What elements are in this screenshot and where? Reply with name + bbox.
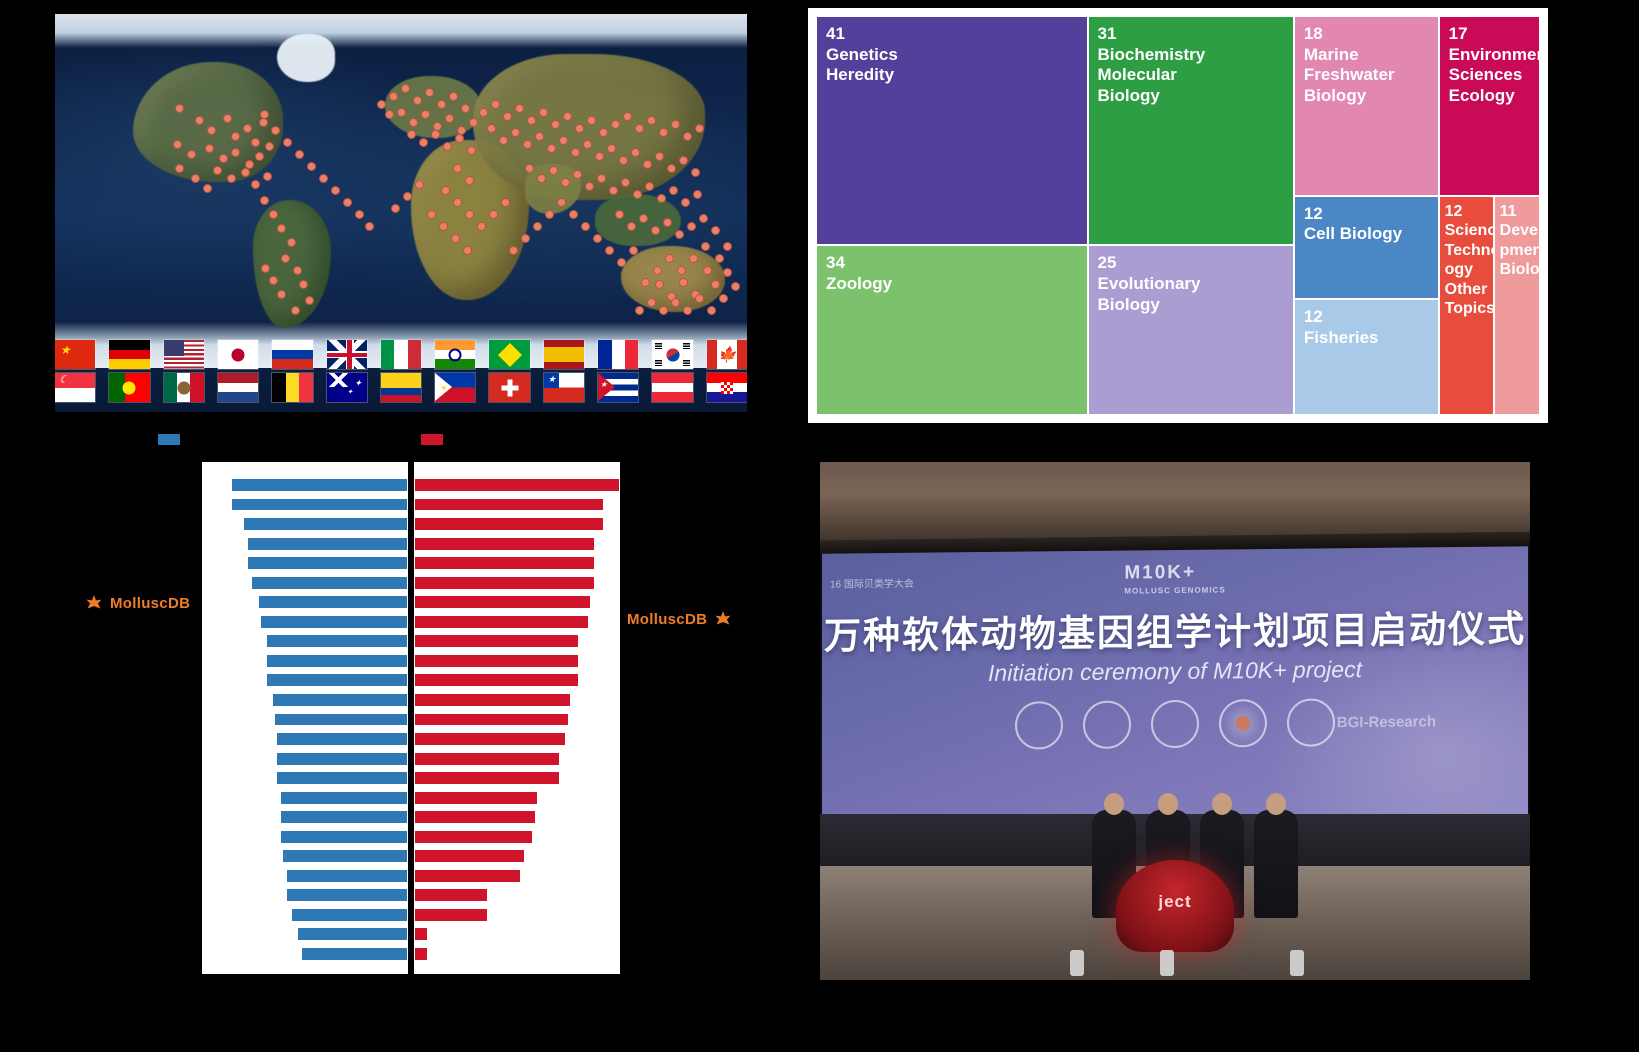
sample-site-marker — [689, 254, 698, 263]
sample-site-marker — [669, 186, 678, 195]
sample-site-marker — [263, 172, 272, 181]
treemap-cell-label: Zoology — [826, 274, 1081, 295]
sample-site-marker — [299, 280, 308, 289]
sample-site-marker — [559, 136, 568, 145]
flag-philippines: ☀ — [435, 373, 475, 402]
sample-site-marker — [595, 152, 604, 161]
sample-site-marker — [627, 222, 636, 231]
treemap-cell-biochemistry-molecular-biology[interactable]: 31BiochemistryMolecularBiology — [1088, 16, 1294, 245]
sample-site-marker — [619, 156, 628, 165]
bar-right[interactable] — [414, 576, 595, 590]
sample-site-marker — [413, 96, 422, 105]
sample-site-marker — [477, 222, 486, 231]
sample-site-marker — [487, 124, 496, 133]
shell-icon-1 — [1015, 701, 1063, 750]
ceremony-photo-panel: 16 国际贝类学大会 M10K+ MOLLUSC GENOMICS 万种软体动物… — [820, 462, 1530, 980]
flag-belgium — [272, 373, 312, 402]
flag-united-states — [164, 340, 204, 369]
sample-site-marker — [523, 140, 532, 149]
sample-site-marker — [231, 148, 240, 157]
sample-site-marker — [539, 108, 548, 117]
person-head — [1104, 793, 1124, 815]
arctic-ice — [55, 14, 747, 48]
person-4 — [1254, 810, 1298, 918]
treemap-cell-label: Marine — [1304, 45, 1432, 66]
treemap-cell-label: Biochemistry — [1098, 45, 1287, 66]
treemap-grid: 41GeneticsHeredity34Zoology31Biochemistr… — [816, 16, 1540, 415]
flag-singapore: ☾ — [55, 373, 95, 402]
screen-title-english: Initiation ceremony of M10K+ project — [988, 656, 1362, 687]
sample-site-marker — [647, 116, 656, 125]
sample-site-marker — [615, 210, 624, 219]
sample-site-marker — [657, 194, 666, 203]
treemap-cell-genetics-heredity[interactable]: 41GeneticsHeredity — [816, 16, 1088, 245]
sample-site-marker — [291, 306, 300, 315]
treemap-cell-value: 18 — [1304, 24, 1432, 45]
flag-brazil — [489, 340, 529, 369]
treemap-cell-label: Biology — [1304, 86, 1432, 107]
sample-site-marker — [575, 124, 584, 133]
flag-netherlands — [218, 373, 258, 402]
sample-site-marker — [439, 222, 448, 231]
sample-site-marker — [397, 108, 406, 117]
sample-site-marker — [307, 162, 316, 171]
bar-left[interactable] — [301, 947, 408, 961]
bar-left[interactable] — [247, 556, 408, 570]
sample-site-marker — [681, 198, 690, 207]
bar-right[interactable] — [414, 752, 560, 766]
sample-site-marker — [527, 116, 536, 125]
sample-site-marker — [295, 150, 304, 159]
sample-site-marker — [533, 222, 542, 231]
sample-site-marker — [675, 230, 684, 239]
flag-cuba: ★ — [598, 373, 638, 402]
bottle-3 — [1290, 950, 1304, 976]
sample-site-marker — [723, 268, 732, 277]
bar-left[interactable] — [258, 595, 408, 609]
sample-site-marker — [581, 222, 590, 231]
bars-plot-area — [202, 462, 620, 974]
flag-portugal — [109, 373, 149, 402]
bars-left-series — [202, 462, 408, 974]
bar-right[interactable] — [414, 791, 538, 805]
bar-right[interactable] — [414, 556, 595, 570]
sample-site-marker — [643, 160, 652, 169]
sample-site-marker — [451, 234, 460, 243]
sample-site-marker — [377, 100, 386, 109]
treemap-cell-label: ogy — [1445, 260, 1491, 280]
sample-site-marker — [711, 280, 720, 289]
bar-left[interactable] — [286, 888, 408, 902]
bar-left[interactable] — [266, 673, 408, 687]
treemap-cell-label: Sciences — [1449, 65, 1533, 86]
sample-site-marker — [365, 222, 374, 231]
sample-site-marker — [461, 104, 470, 113]
sample-site-marker — [261, 264, 270, 273]
treemap-cell-value: 11 — [1500, 202, 1537, 222]
sample-site-marker — [599, 128, 608, 137]
flag-russia — [272, 340, 312, 369]
sample-site-marker — [319, 174, 328, 183]
sample-site-marker — [385, 110, 394, 119]
bar-left[interactable] — [260, 615, 408, 629]
sample-site-marker — [583, 140, 592, 149]
treemap-cell-value: 12 — [1304, 204, 1432, 225]
bar-right[interactable] — [414, 947, 428, 961]
sample-site-marker — [269, 276, 278, 285]
sample-site-marker — [671, 298, 680, 307]
flag-united-kingdom — [327, 340, 367, 369]
sample-site-marker — [425, 88, 434, 97]
treemap-cell-marine-freshwater-biology[interactable]: 18MarineFreshwaterBiology — [1294, 16, 1439, 196]
sample-site-marker — [191, 174, 200, 183]
sample-site-marker — [711, 226, 720, 235]
treemap-cell-label: Other — [1445, 280, 1491, 300]
sample-site-marker — [683, 132, 692, 141]
sample-site-marker — [205, 144, 214, 153]
bar-left[interactable] — [280, 810, 408, 824]
bar-right[interactable] — [414, 654, 579, 668]
flag-colombia — [381, 373, 421, 402]
molluscdb-label-right: MolluscDB — [627, 611, 707, 628]
sample-site-marker — [431, 130, 440, 139]
person-head — [1266, 793, 1286, 815]
sample-site-marker — [593, 234, 602, 243]
treemap-cell-label: Environmental — [1449, 45, 1533, 66]
treemap-cell-label: Freshwater — [1304, 65, 1432, 86]
treemap-cell-value: 17 — [1449, 24, 1533, 45]
treemap-cell-label: Genetics — [826, 45, 1081, 66]
sample-site-marker — [509, 246, 518, 255]
sample-site-marker — [525, 164, 534, 173]
treemap-cell-label: Cell Biology — [1304, 224, 1432, 245]
sample-site-marker — [707, 306, 716, 315]
bar-right[interactable] — [414, 888, 488, 902]
bar-right[interactable] — [414, 908, 488, 922]
treemap-cell-label: Develo — [1500, 221, 1537, 241]
sample-site-marker — [251, 180, 260, 189]
bar-right[interactable] — [414, 830, 533, 844]
sample-site-marker — [499, 136, 508, 145]
shell-icon-2 — [1083, 700, 1131, 749]
treemap-cell-label: Biology — [1098, 295, 1287, 316]
sample-site-marker — [343, 198, 352, 207]
sample-site-marker — [585, 182, 594, 191]
sample-site-marker — [691, 168, 700, 177]
sample-site-marker — [617, 258, 626, 267]
sample-site-marker — [629, 246, 638, 255]
treemap-cell-cell-biology[interactable]: 12Cell Biology — [1294, 196, 1439, 300]
sample-site-marker — [469, 118, 478, 127]
bar-left[interactable] — [266, 634, 408, 648]
star-icon — [84, 594, 104, 613]
sample-site-marker — [501, 198, 510, 207]
treemap-cell-evolutionary-biology[interactable]: 25EvolutionaryBiology — [1088, 245, 1294, 415]
bar-left[interactable] — [286, 869, 408, 883]
flag-switzerland — [489, 373, 529, 402]
sample-site-marker — [287, 238, 296, 247]
sample-site-marker — [511, 128, 520, 137]
sample-site-marker — [723, 242, 732, 251]
bar-right[interactable] — [414, 595, 591, 609]
bar-left[interactable] — [243, 517, 408, 531]
treemap-cell-label: Fisheries — [1304, 328, 1432, 349]
country-flag-strip: ★🍁 ☾✦✦☀★★ — [55, 340, 747, 406]
flag-india — [435, 340, 475, 369]
molluscdb-label-left: MolluscDB — [110, 595, 190, 612]
sample-site-marker — [609, 186, 618, 195]
treemap-cell-value: 25 — [1098, 253, 1287, 274]
bar-left[interactable] — [297, 927, 408, 941]
sample-site-marker — [187, 150, 196, 159]
sample-site-marker — [243, 124, 252, 133]
sample-site-marker — [441, 186, 450, 195]
treemap-cell-label: Biology — [1098, 86, 1287, 107]
screen-title-chinese: 万种软体动物基因组学计划项目启动仪式 — [824, 598, 1526, 659]
treemap-cell-zoology[interactable]: 34Zoology — [816, 245, 1088, 415]
treemap-cell-value: 31 — [1098, 24, 1287, 45]
flag-south-korea — [652, 340, 692, 369]
sample-site-marker — [703, 266, 712, 275]
person-head — [1212, 793, 1232, 815]
treemap-cell-fisheries[interactable]: 12Fisheries — [1294, 299, 1439, 415]
sample-site-marker — [645, 182, 654, 191]
flag-australia: ✦✦ — [327, 373, 367, 402]
bar-right[interactable] — [414, 537, 595, 551]
brand-subtitle: MOLLUSC GENOMICS — [1124, 585, 1225, 595]
sample-site-marker — [227, 174, 236, 183]
flag-japan — [218, 340, 258, 369]
flag-austria — [652, 373, 692, 402]
sample-site-marker — [265, 142, 274, 151]
m10k-brand-logo: M10K+ MOLLUSC GENOMICS — [1124, 561, 1225, 595]
sample-site-marker — [260, 196, 269, 205]
treemap-cell-label: pmenta — [1500, 241, 1537, 261]
conference-tag: 16 国际贝类学大会 — [830, 575, 914, 591]
flag-china: ★ — [55, 340, 95, 369]
sample-site-marker — [207, 126, 216, 135]
research-areas-treemap-panel: 41GeneticsHeredity34Zoology31Biochemistr… — [808, 8, 1548, 423]
sample-site-marker — [715, 254, 724, 263]
sample-site-marker — [665, 254, 674, 263]
shell-icon-3 — [1151, 700, 1199, 749]
sample-site-marker — [719, 294, 728, 303]
sample-site-marker — [693, 190, 702, 199]
treemap-cell-value: 12 — [1445, 202, 1491, 222]
sample-site-marker — [453, 164, 462, 173]
sample-site-marker — [515, 104, 524, 113]
bottle-1 — [1070, 950, 1084, 976]
bar-left[interactable] — [274, 713, 408, 727]
bar-left[interactable] — [280, 791, 408, 805]
bar-right[interactable] — [414, 771, 560, 785]
sample-site-marker — [293, 266, 302, 275]
treemap-cell-value: 41 — [826, 24, 1081, 45]
treemap-cell-label: Heredity — [826, 65, 1081, 86]
sample-site-marker — [687, 222, 696, 231]
treemap-cell-label: Topics — [1445, 299, 1491, 319]
treemap-cell-value: 34 — [826, 253, 1081, 274]
flag-spain — [544, 340, 584, 369]
sample-site-marker — [409, 118, 418, 127]
bar-right[interactable] — [414, 810, 536, 824]
sample-site-marker — [677, 266, 686, 275]
sample-site-marker — [695, 124, 704, 133]
sample-site-marker — [655, 152, 664, 161]
sample-site-marker — [465, 176, 474, 185]
bar-right[interactable] — [414, 732, 566, 746]
flag-croatia — [707, 373, 747, 402]
sample-site-marker — [663, 218, 672, 227]
sample-site-marker — [659, 306, 668, 315]
bar-right[interactable] — [414, 869, 521, 883]
sample-site-marker — [639, 214, 648, 223]
sample-site-marker — [699, 214, 708, 223]
sample-site-marker — [259, 118, 268, 127]
sample-site-marker — [549, 166, 558, 175]
bar-left[interactable] — [291, 908, 408, 922]
sample-site-marker — [203, 184, 212, 193]
stage-led-screen: 16 国际贝类学大会 M10K+ MOLLUSC GENOMICS 万种软体动物… — [822, 546, 1528, 821]
bar-right[interactable] — [414, 634, 579, 648]
treemap-cell-label: Molecular — [1098, 65, 1287, 86]
shell-icon-5 — [1287, 698, 1335, 747]
legend-swatch-left — [158, 434, 180, 445]
bar-left[interactable] — [276, 752, 408, 766]
sample-site-marker — [223, 114, 232, 123]
sample-site-marker — [195, 116, 204, 125]
sample-site-marker — [241, 168, 250, 177]
sample-site-marker — [631, 148, 640, 157]
sample-site-marker — [667, 164, 676, 173]
bar-right[interactable] — [414, 478, 620, 492]
sample-site-marker — [491, 100, 500, 109]
bar-right[interactable] — [414, 498, 604, 512]
sample-site-marker — [651, 226, 660, 235]
sample-site-marker — [219, 154, 228, 163]
sample-site-marker — [633, 190, 642, 199]
treemap-cell-label: Biology — [1500, 260, 1537, 280]
treemap-cell-developmental-biology[interactable]: 11DevelopmentaBiology — [1494, 196, 1540, 415]
sample-site-marker — [545, 210, 554, 219]
bar-left[interactable] — [282, 849, 408, 863]
sample-site-marker — [695, 294, 704, 303]
flag-france — [598, 340, 638, 369]
sample-site-marker — [407, 130, 416, 139]
bar-left[interactable] — [266, 654, 408, 668]
bar-right[interactable] — [414, 615, 589, 629]
sample-site-marker — [647, 298, 656, 307]
continent-greenland — [277, 34, 335, 82]
sample-site-marker — [277, 290, 286, 299]
bar-right[interactable] — [414, 927, 428, 941]
sample-site-marker — [419, 138, 428, 147]
sample-site-marker — [623, 112, 632, 121]
treemap-cell-label: Technol — [1445, 241, 1491, 261]
sample-site-marker — [557, 198, 566, 207]
sample-site-marker — [277, 224, 286, 233]
sample-site-marker — [621, 178, 630, 187]
sample-site-marker — [427, 210, 436, 219]
sample-site-marker — [305, 296, 314, 305]
brand-text: M10K+ — [1124, 562, 1196, 584]
sample-site-marker — [463, 246, 472, 255]
bar-right[interactable] — [414, 693, 571, 707]
sample-site-marker — [449, 92, 458, 101]
sample-site-marker — [607, 144, 616, 153]
sample-site-marker — [173, 140, 182, 149]
continent-asia — [473, 54, 705, 200]
sample-site-marker — [701, 242, 710, 251]
sample-site-marker — [561, 178, 570, 187]
sample-site-marker — [635, 124, 644, 133]
sample-site-marker — [401, 84, 410, 93]
bar-left[interactable] — [247, 537, 408, 551]
flag-row-secondary: ☾✦✦☀★★ — [55, 373, 747, 402]
bar-right[interactable] — [414, 517, 604, 531]
sample-site-marker — [175, 104, 184, 113]
sample-site-marker — [443, 142, 452, 151]
bar-left[interactable] — [280, 830, 408, 844]
shell-icon-4 — [1219, 699, 1267, 748]
bar-left[interactable] — [231, 478, 408, 492]
sample-site-marker — [641, 278, 650, 287]
bar-chart-legend — [140, 432, 640, 446]
sample-site-marker — [587, 116, 596, 125]
sample-site-marker — [489, 210, 498, 219]
sample-site-marker — [683, 306, 692, 315]
bar-right[interactable] — [414, 713, 569, 727]
flag-italy — [381, 340, 421, 369]
sample-site-marker — [655, 280, 664, 289]
sample-site-marker — [453, 198, 462, 207]
flag-canada: 🍁 — [707, 340, 747, 369]
sample-site-marker — [521, 234, 530, 243]
sample-site-marker — [535, 132, 544, 141]
sample-site-marker — [479, 108, 488, 117]
sample-site-marker — [445, 114, 454, 123]
sample-site-marker — [569, 210, 578, 219]
flag-mexico — [164, 373, 204, 402]
bar-left[interactable] — [231, 498, 408, 512]
sample-site-marker — [635, 306, 644, 315]
organization-label: BGI-Research — [1337, 713, 1436, 731]
treemap-cell-label: Evolutionary — [1098, 274, 1287, 295]
bar-left[interactable] — [272, 693, 408, 707]
sample-site-marker — [213, 166, 222, 175]
bar-right[interactable] — [414, 673, 579, 687]
bottle-2 — [1160, 950, 1174, 976]
species-icon-row — [1015, 698, 1335, 749]
sample-site-marker — [331, 186, 340, 195]
sample-site-marker — [281, 254, 290, 263]
sample-site-marker — [547, 144, 556, 153]
sample-site-marker — [269, 210, 278, 219]
sample-site-marker — [605, 246, 614, 255]
bar-right[interactable] — [414, 849, 525, 863]
treemap-cell-science-technology-other-topics[interactable]: 12ScienceTechnologyOtherTopics — [1439, 196, 1494, 415]
sample-site-marker — [403, 192, 412, 201]
treemap-cell-environmental-sciences-ecology[interactable]: 17EnvironmentalSciencesEcology — [1439, 16, 1540, 196]
sample-site-marker — [597, 174, 606, 183]
bar-left[interactable] — [276, 732, 408, 746]
legend-swatch-right — [421, 434, 443, 445]
bar-left[interactable] — [276, 771, 408, 785]
sample-site-marker — [611, 120, 620, 129]
molluscdb-annotation-right: MolluscDB — [627, 610, 733, 629]
bar-left[interactable] — [251, 576, 408, 590]
sample-site-marker — [415, 180, 424, 189]
